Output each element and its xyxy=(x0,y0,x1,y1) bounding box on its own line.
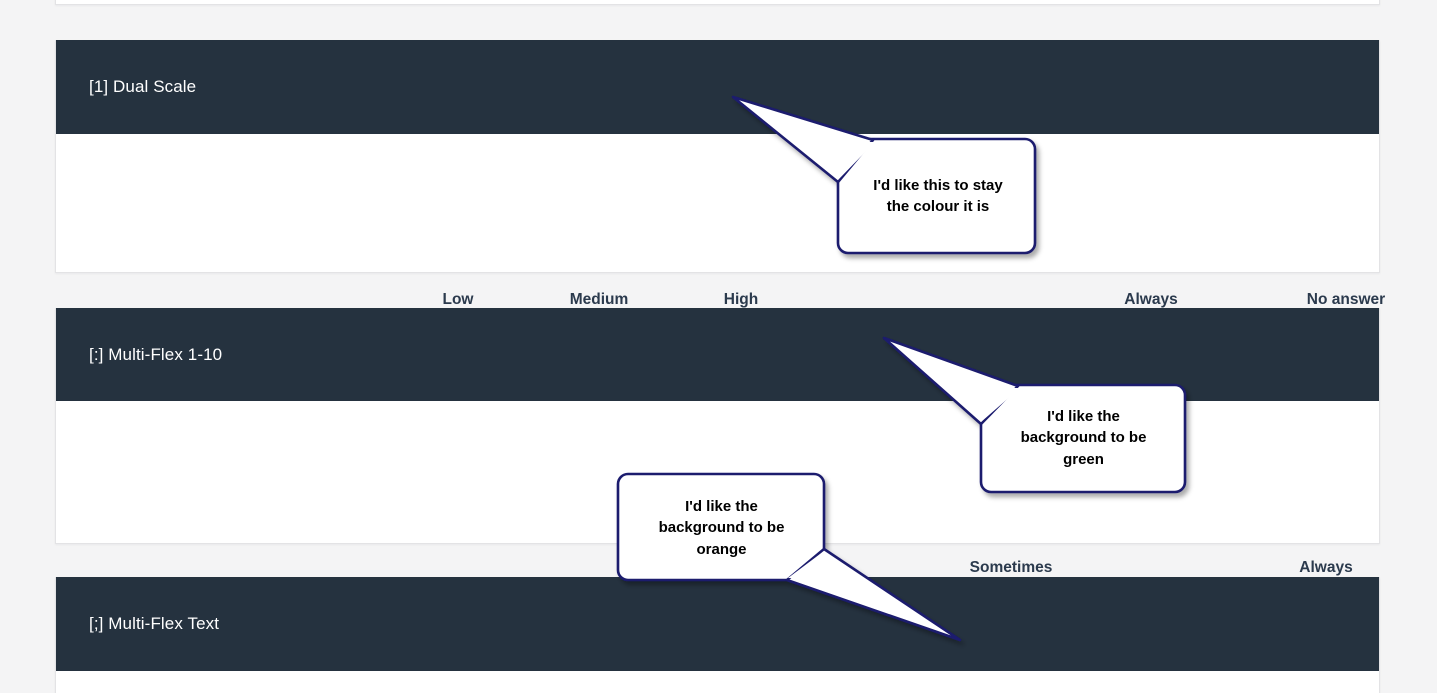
previous-question-card-partial xyxy=(55,0,1380,5)
scale-label-no-answer[interactable]: No answer xyxy=(1307,292,1385,308)
callout-background-orange[interactable]: I'd like the background to be orange xyxy=(612,468,967,648)
scale-label-always-2[interactable]: Always xyxy=(1299,560,1352,576)
card-body-dual-scale: Low Medium High Always No answer xyxy=(56,134,1379,272)
card-title-dual-scale: [1] Dual Scale xyxy=(89,77,196,97)
card-title-multi-flex-text: [;] Multi-Flex Text xyxy=(89,614,219,634)
page-canvas: [1] Dual Scale Low Medium High Always No… xyxy=(0,0,1437,693)
scale-label-high[interactable]: High xyxy=(724,292,758,308)
card-title-multi-flex-1-10: [:] Multi-Flex 1-10 xyxy=(89,345,222,365)
scale-label-sometimes[interactable]: Sometimes xyxy=(970,560,1053,576)
card-header-dual-scale: [1] Dual Scale xyxy=(56,40,1379,134)
scale-label-always[interactable]: Always xyxy=(1124,292,1177,308)
scale-label-low[interactable]: Low xyxy=(443,292,474,308)
scale-label-row-dual-scale: Low Medium High Always No answer xyxy=(56,134,1379,272)
card-body-multi-flex-text xyxy=(56,671,1379,693)
callout-keep-colour[interactable]: I'd like this to stay the colour it is xyxy=(725,90,1045,270)
question-card-dual-scale: [1] Dual Scale Low Medium High Always No… xyxy=(55,40,1380,273)
scale-label-medium[interactable]: Medium xyxy=(570,292,629,308)
